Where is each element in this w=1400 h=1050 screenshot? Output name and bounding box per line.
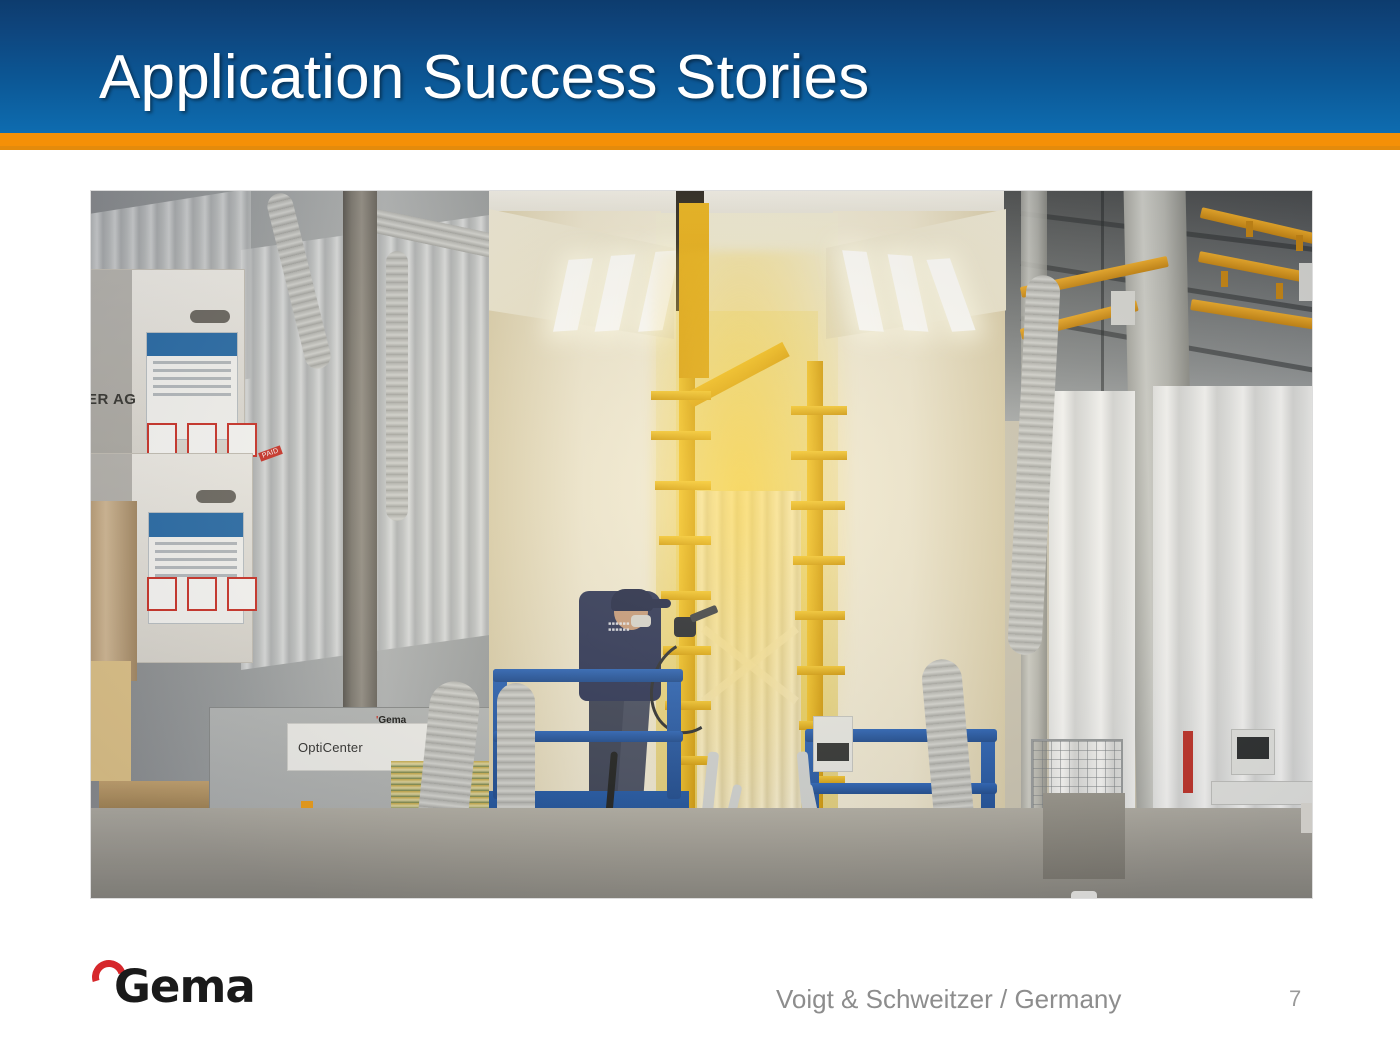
gema-logo: Gema [92, 962, 232, 1016]
work-table[interactable] [1211, 781, 1312, 805]
recycle-icon [147, 423, 177, 457]
lift-guardrail [493, 669, 683, 682]
fire-extinguisher [1183, 731, 1193, 793]
steel-crate [1043, 793, 1125, 879]
control-screen [817, 743, 849, 761]
gema-logo-text: Gema [114, 964, 255, 1009]
fragile-icon [187, 423, 217, 457]
content-photo: ER AG PAID AG [91, 191, 1312, 898]
duct-pipe [386, 251, 408, 521]
paper-drum [91, 501, 137, 681]
opticenter-label-text: OptiCenter [288, 740, 363, 755]
footer-caption: Voigt & Schweitzer / Germany [776, 984, 1121, 1015]
floor-bottle [1071, 891, 1097, 898]
slide: Application Success Stories [0, 0, 1400, 1050]
carton-company-text: ER AG [91, 391, 136, 408]
worker-jacket-text: ■■■■■■■■■■■■ [591, 621, 647, 633]
page-title: Application Success Stories [99, 47, 869, 109]
photo-canvas: ER AG PAID AG [91, 191, 1312, 898]
gema-brand-mark: 'Gema [376, 715, 406, 726]
keep-dry-icon [227, 423, 257, 457]
worker-cap-brim [643, 599, 671, 608]
conveyor-carrier [1299, 263, 1312, 301]
control-screen [1237, 737, 1269, 759]
header-accent-rule-shadow [0, 146, 1400, 150]
fragile-icon [187, 577, 217, 611]
floor-box [1301, 803, 1312, 833]
paper-drum [91, 661, 131, 781]
keep-dry-icon [227, 577, 257, 611]
recycle-icon [147, 577, 177, 611]
conveyor-carrier [1111, 291, 1135, 325]
page-number: 7 [1289, 986, 1301, 1012]
factory-floor [91, 808, 1312, 898]
